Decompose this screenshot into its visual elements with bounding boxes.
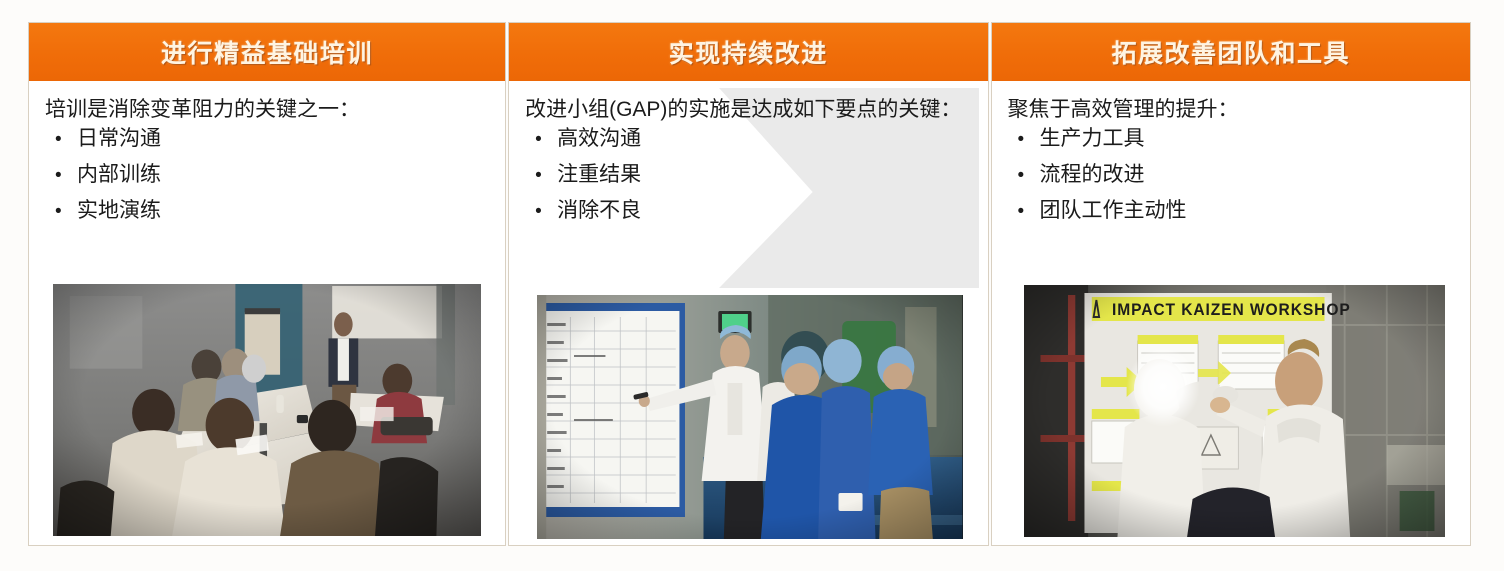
panel-2-body: 改进小组(GAP)的实施是达成如下要点的关键： • 高效沟通 • 注重结果 •	[509, 82, 987, 545]
bullet-label: 日常沟通	[77, 128, 489, 149]
panel-lean-basic-training[interactable]: 进行精益基础培训 培训是消除变革阻力的关键之一： • 日常沟通 • 内部训练	[28, 22, 506, 546]
list-item: • 内部训练	[45, 164, 489, 185]
panel-2-photo-frame: 车间现场白板前，白大褂工程师向戴发网的操作工讲解看板	[537, 295, 962, 539]
panel-3-header-title: 拓展改善团队和工具	[1112, 34, 1351, 70]
bullet-label: 生产力工具	[1040, 128, 1454, 149]
list-item: • 高效沟通	[525, 128, 971, 149]
kaizen-workshop-board-photo: IMPACT KAIZEN WORKSHOP	[1024, 285, 1445, 537]
bullet-dot-icon: •	[1008, 166, 1040, 185]
panel-2-header: 实现持续改进	[509, 23, 987, 82]
list-item: • 消除不良	[525, 200, 971, 221]
bullet-dot-icon: •	[525, 130, 557, 149]
bullet-dot-icon: •	[525, 202, 557, 221]
list-item: • 流程的改进	[1008, 164, 1454, 185]
bullet-label: 内部训练	[77, 164, 489, 185]
bullet-label: 流程的改进	[1040, 164, 1454, 185]
panel-1-header-title: 进行精益基础培训	[161, 34, 373, 70]
three-panel-strip: 进行精益基础培训 培训是消除变革阻力的关键之一： • 日常沟通 • 内部训练	[28, 22, 1471, 546]
shopfloor-whiteboard-photo	[537, 295, 962, 539]
bullet-dot-icon: •	[45, 130, 77, 149]
bullet-label: 实地演练	[77, 200, 489, 221]
list-item: • 注重结果	[525, 164, 971, 185]
list-item: • 实地演练	[45, 200, 489, 221]
bullet-dot-icon: •	[45, 166, 77, 185]
panel-3-intro-text: 聚焦于高效管理的提升：	[1008, 96, 1454, 124]
slide-canvas: 进行精益基础培训 培训是消除变革阻力的关键之一： • 日常沟通 • 内部训练	[0, 0, 1504, 571]
panel-2-bullet-list: • 高效沟通 • 注重结果 • 消除不良	[525, 128, 971, 221]
panel-continuous-improvement[interactable]: 实现持续改进 改进小组(GAP)的实施是达成如下要点的关键： • 高效沟通 • …	[508, 22, 988, 546]
panel-1-photo-frame: 会议室中学员围坐长桌接受培训，讲师站在投影幕前	[53, 284, 481, 536]
list-item: • 团队工作主动性	[1008, 200, 1454, 221]
panel-3-body: 聚焦于高效管理的提升： • 生产力工具 • 流程的改进 • 团队工作主动性	[992, 82, 1470, 545]
panel-1-body: 培训是消除变革阻力的关键之一： • 日常沟通 • 内部训练 • 实地演练	[29, 82, 505, 545]
list-item: • 日常沟通	[45, 128, 489, 149]
panel-3-bullet-list: • 生产力工具 • 流程的改进 • 团队工作主动性	[1008, 128, 1454, 221]
bullet-label: 高效沟通	[557, 128, 971, 149]
bullet-label: 消除不良	[557, 200, 971, 221]
bullet-label: 注重结果	[557, 164, 971, 185]
classroom-training-photo	[53, 284, 481, 536]
list-item: • 生产力工具	[1008, 128, 1454, 149]
bullet-dot-icon: •	[1008, 202, 1040, 221]
bullet-label: 团队工作主动性	[1040, 200, 1454, 221]
bullet-dot-icon: •	[45, 202, 77, 221]
panel-expand-kaizen-teams-tools[interactable]: 拓展改善团队和工具 聚焦于高效管理的提升： • 生产力工具 • 流程的改进	[991, 22, 1471, 546]
bullet-dot-icon: •	[1008, 130, 1040, 149]
panel-3-photo-frame: IMPACT KAIZEN WORKSHOP	[1024, 285, 1445, 537]
panel-2-header-title: 实现持续改进	[669, 34, 828, 70]
panel-1-intro-text: 培训是消除变革阻力的关键之一：	[45, 96, 489, 124]
panel-1-bullet-list: • 日常沟通 • 内部训练 • 实地演练	[45, 128, 489, 221]
bullet-dot-icon: •	[525, 166, 557, 185]
panel-2-intro-text: 改进小组(GAP)的实施是达成如下要点的关键：	[525, 96, 971, 124]
panel-1-header: 进行精益基础培训	[29, 23, 505, 82]
panel-3-header: 拓展改善团队和工具	[992, 23, 1470, 82]
